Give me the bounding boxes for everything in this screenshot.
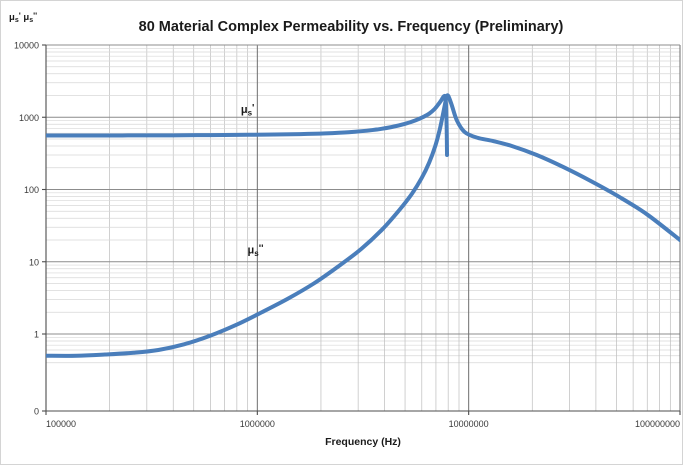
y-axis-title: μs' μs'' [9,11,37,25]
minor-gridlines [46,45,680,411]
x-tick-label: 1000000 [240,419,275,429]
y-tick-label: 10000 [14,41,39,51]
x-tick-label: 100000 [46,419,76,429]
y-tick-label: 0 [34,407,39,417]
annotations: μs'μs'' [241,103,264,258]
y-tick-label: 10 [29,257,39,267]
series-annotation: μs'' [248,244,264,259]
svg-text:μs'': μs'' [248,244,264,259]
data-series [46,95,680,356]
tick-labels: 1000010001001010100000100000010000000100… [14,41,680,430]
x-axis-title: Frequency (Hz) [325,436,401,448]
permeability-chart: 1000010001001010100000100000010000000100… [1,1,683,465]
tick-marks [42,45,680,415]
x-tick-label: 10000000 [449,419,489,429]
y-tick-label: 1 [34,330,39,340]
x-tick-label: 100000000 [635,419,680,429]
chart-container: 1000010001001010100000100000010000000100… [0,0,683,465]
y-tick-label: 100 [24,185,39,195]
y-tick-label: 1000 [19,113,39,123]
chart-title: 80 Material Complex Permeability vs. Fre… [139,19,564,35]
